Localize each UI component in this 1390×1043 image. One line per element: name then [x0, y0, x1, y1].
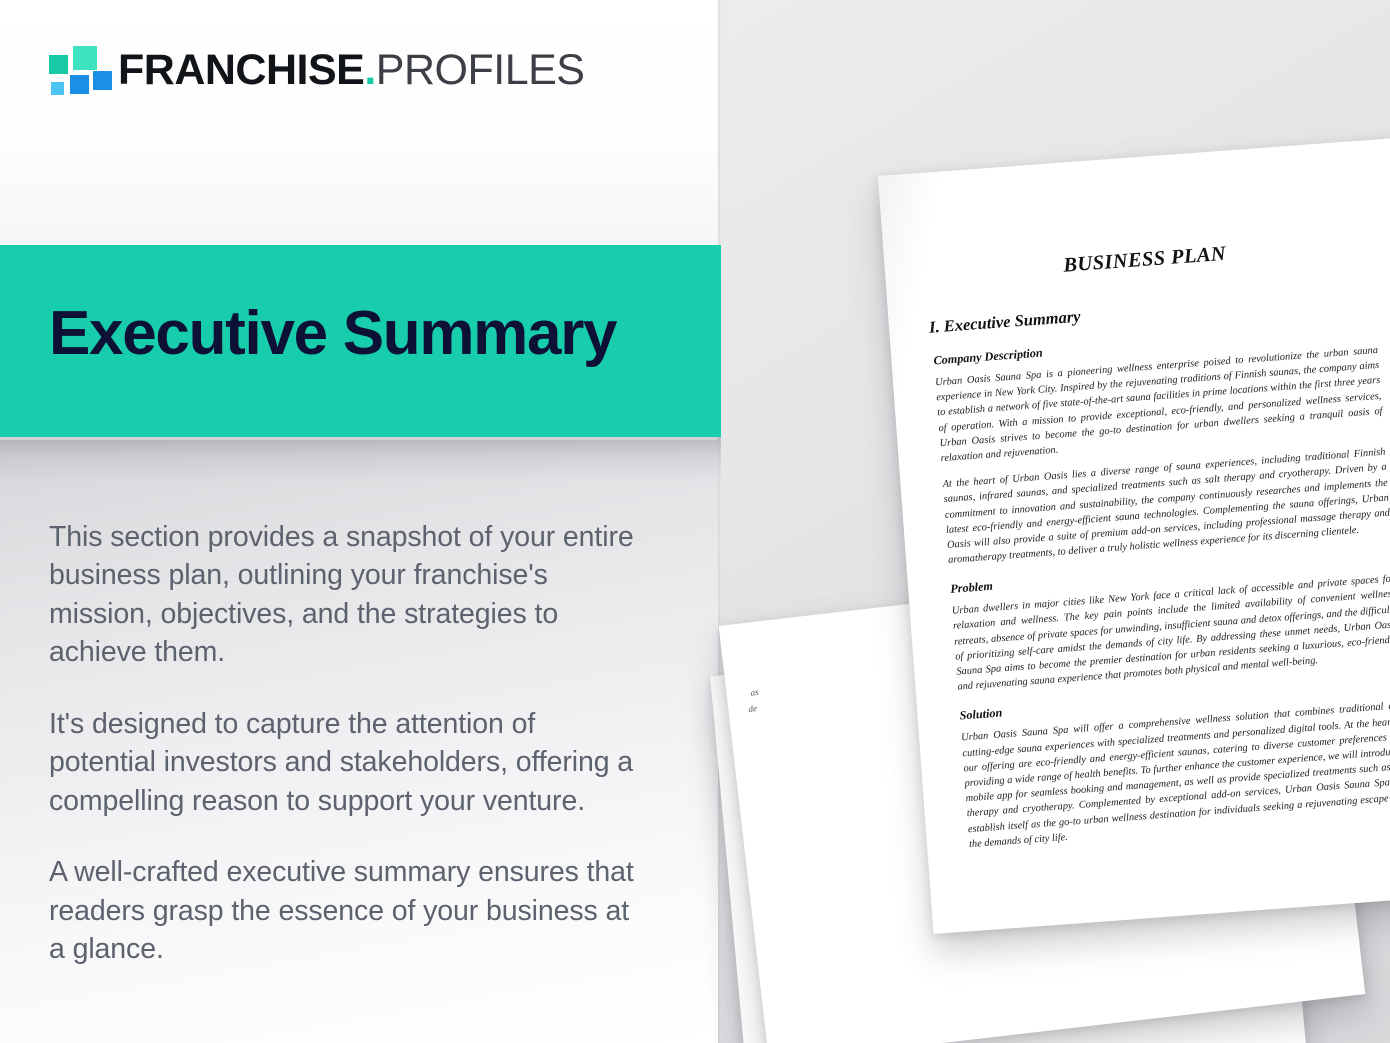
document-sheet-front[interactable]: BUSINESS PLAN I. Executive Summary Compa… [878, 138, 1390, 934]
logo-squares-icon [46, 44, 104, 96]
document-paragraph-company-2: At the heart of Urban Oasis lies a diver… [942, 444, 1390, 568]
logo-square-blue [70, 75, 89, 94]
document-title: BUSINESS PLAN [915, 232, 1375, 289]
underlay-text-4: as [750, 687, 759, 698]
background-top-wash [0, 0, 720, 246]
logo-square-blue-right [93, 71, 112, 90]
brand-name-dot: . [364, 46, 375, 94]
brand-name-light: PROFILES [376, 46, 585, 94]
body-paragraph-3: A well-crafted executive summary ensures… [49, 853, 639, 968]
brand-logo[interactable]: FRANCHISE.PROFILES [46, 44, 584, 96]
page-title: Executive Summary [49, 303, 616, 365]
document-stack: an wellness demands of city life. by exc… [700, 120, 1390, 1043]
logo-square-mint [73, 46, 97, 70]
underlay-fragment-de: de [748, 702, 758, 716]
body-paragraph-1: This section provides a snapshot of your… [49, 518, 639, 672]
document-content: BUSINESS PLAN I. Executive Summary Compa… [878, 138, 1390, 934]
brand-wordmark: FRANCHISE.PROFILES [118, 49, 584, 92]
logo-square-light-blue [51, 82, 64, 95]
slide-canvas: FRANCHISE.PROFILES Executive Summary Thi… [0, 0, 1390, 1043]
logo-square-teal [49, 55, 68, 74]
body-copy: This section provides a snapshot of your… [49, 518, 639, 969]
underlay-fragment-as: as [750, 686, 759, 700]
body-paragraph-2: It's designed to capture the attention o… [49, 705, 639, 820]
document-paragraph-solution-1: Urban Oasis Sauna Spa will offer a compr… [961, 698, 1390, 852]
title-banner-shadow [0, 437, 721, 483]
brand-name-bold: FRANCHISE [118, 46, 364, 94]
underlay-text-5: de [748, 703, 758, 714]
